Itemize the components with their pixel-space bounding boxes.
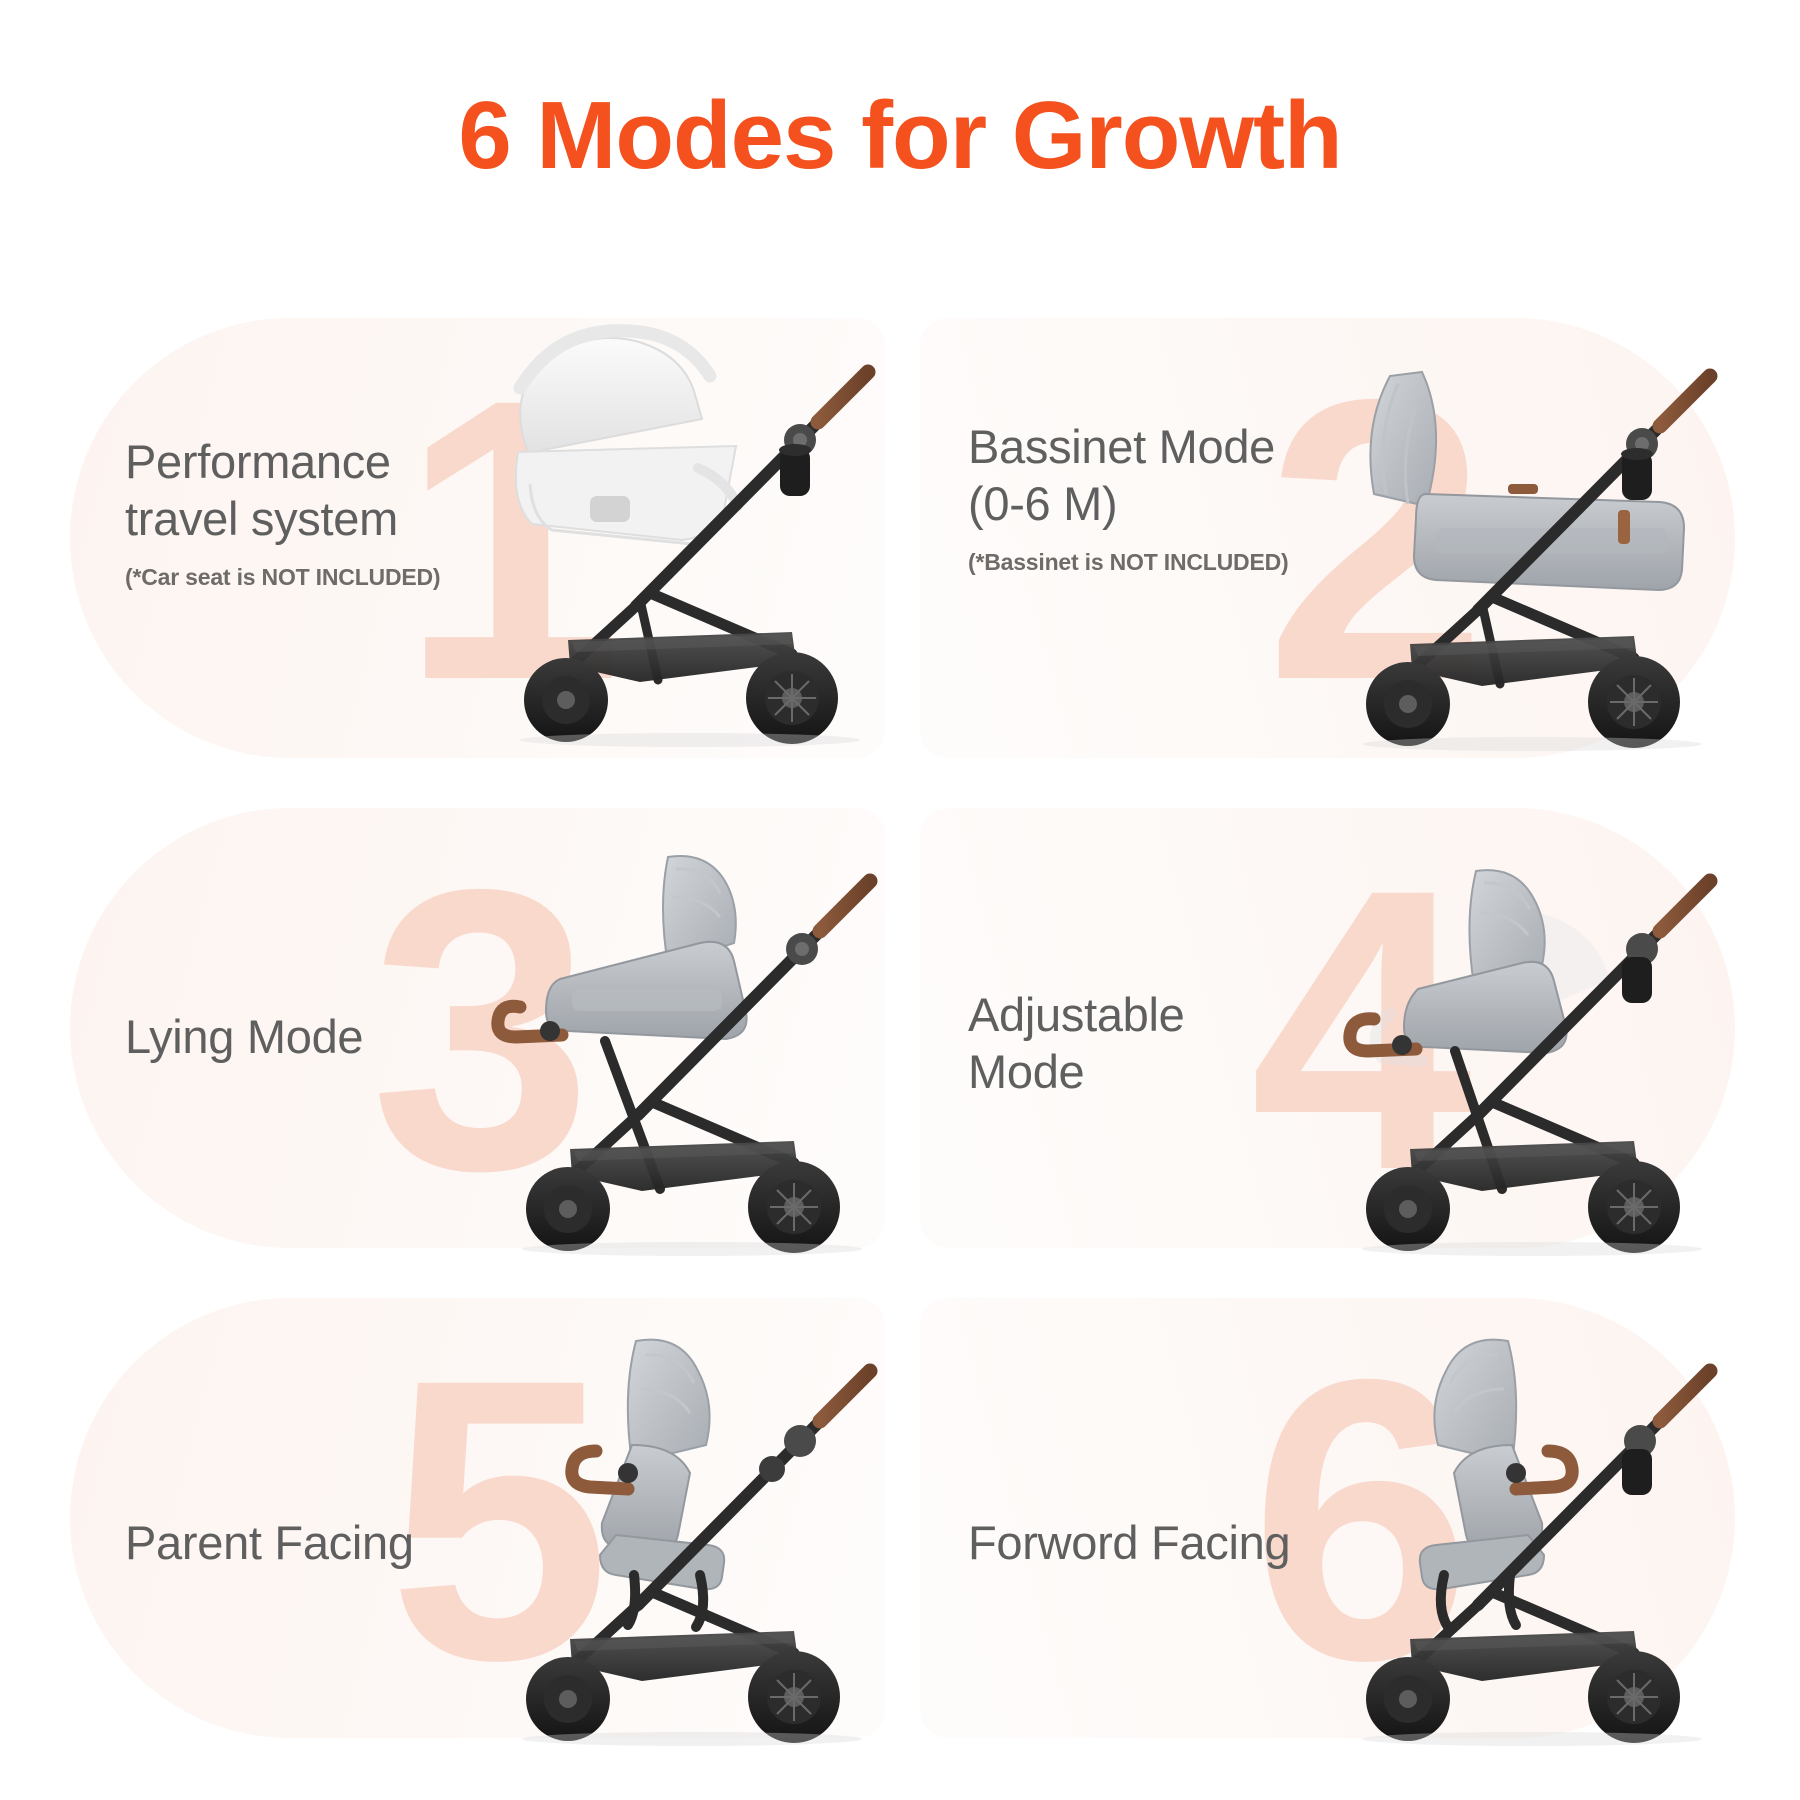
infographic-page: 6 Modes for Growth 1 Performance travel …: [0, 0, 1800, 1800]
card-text-block: Lying Mode: [125, 1008, 363, 1081]
mode-card-2[interactable]: 2 Bassinet Mode (0-6 M) (*Bassinet is NO…: [920, 318, 1735, 758]
card-text-block: Bassinet Mode (0-6 M) (*Bassinet is NOT …: [968, 418, 1288, 576]
card-text-block: Forword Facing: [968, 1514, 1290, 1587]
modes-grid: 1 Performance travel system (*Car seat i…: [70, 318, 1735, 1738]
card-heading: Adjustable Mode: [968, 986, 1185, 1101]
card-heading: Lying Mode: [125, 1008, 363, 1065]
mode-card-1[interactable]: 1 Performance travel system (*Car seat i…: [70, 318, 885, 758]
page-title: 6 Modes for Growth: [0, 88, 1800, 184]
card-text-block: Adjustable Mode: [968, 986, 1185, 1117]
card-heading: Bassinet Mode (0-6 M): [968, 418, 1288, 533]
card-note: (*Car seat is NOT INCLUDED): [125, 564, 440, 591]
mode-card-3[interactable]: 3 Lying Mode: [70, 808, 885, 1248]
mode-card-6[interactable]: 6 Forword Facing: [920, 1298, 1735, 1738]
card-heading: Performance travel system: [125, 433, 440, 548]
mode-card-5[interactable]: 5 Parent Facing: [70, 1298, 885, 1738]
card-text-block: Parent Facing: [125, 1514, 414, 1587]
watermark-number: 4: [1250, 830, 1472, 1230]
card-heading: Parent Facing: [125, 1514, 414, 1571]
card-note: (*Bassinet is NOT INCLUDED): [968, 549, 1288, 576]
card-text-block: Performance travel system (*Car seat is …: [125, 433, 440, 591]
watermark-number: 5: [388, 1320, 610, 1720]
watermark-number: 3: [370, 830, 592, 1230]
watermark-number: 2: [1265, 340, 1487, 740]
mode-card-4[interactable]: 4 Adjustable Mode: [920, 808, 1735, 1248]
card-heading: Forword Facing: [968, 1514, 1290, 1571]
